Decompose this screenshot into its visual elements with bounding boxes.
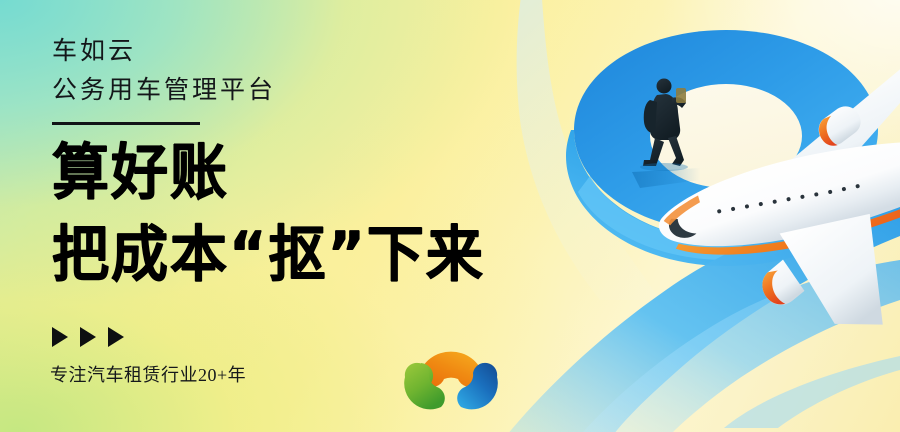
brand-name: 车如云 bbox=[52, 38, 612, 67]
play-arrow-icon-1 bbox=[52, 327, 68, 347]
brand-subtitle: 公务用车管理平台 bbox=[52, 77, 612, 106]
play-arrow-icon-2 bbox=[80, 327, 96, 347]
headline-line-2: 把成本“抠”下来 bbox=[52, 221, 612, 290]
promo-banner: 车如云 公务用车管理平台 算好账 把成本“抠”下来 专注汽车租赁行业20+年 bbox=[0, 0, 900, 432]
headline-line-1: 算好账 bbox=[52, 139, 612, 208]
tagline: 专注汽车租赁行业20+年 bbox=[50, 361, 246, 387]
play-arrow-icon-3 bbox=[108, 327, 124, 347]
play-arrow-group bbox=[52, 327, 124, 347]
cloud-logo bbox=[399, 329, 503, 411]
divider-rule bbox=[52, 122, 200, 125]
banner-text-block: 车如云 公务用车管理平台 算好账 把成本“抠”下来 bbox=[52, 38, 612, 286]
